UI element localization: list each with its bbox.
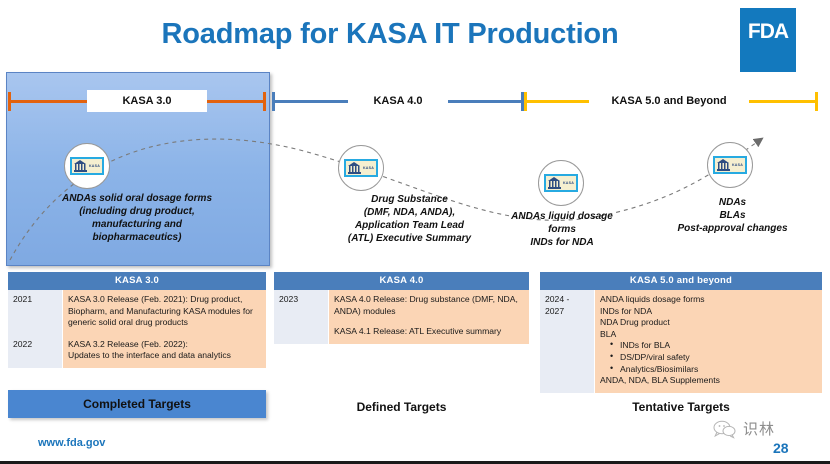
milestone-4-line-2: BLAs bbox=[650, 209, 815, 222]
bullet-item: DS/DP/viral safety bbox=[610, 352, 817, 364]
cell-paragraph: Updates to the interface and data analyt… bbox=[68, 350, 261, 362]
timeline-cap-right-3 bbox=[815, 92, 818, 111]
cell-paragraph: KASA 3.0 Release (Feb. 2021): Drug produ… bbox=[68, 294, 261, 329]
cell-paragraph: NDA Drug product bbox=[600, 317, 817, 329]
kasa-card-2: KASA bbox=[344, 159, 378, 177]
timeline-label-kasa-4: KASA 4.0 bbox=[348, 90, 448, 112]
wechat-bubble-icon bbox=[712, 419, 738, 439]
milestone-4-line-3: Post-approval changes bbox=[650, 222, 815, 235]
cell-body: KASA 3.0 Release (Feb. 2021): Drug produ… bbox=[63, 290, 267, 335]
table-kasa-3-grid: 2021 KASA 3.0 Release (Feb. 2021): Drug … bbox=[8, 290, 266, 368]
fda-logo-text: FDA bbox=[748, 20, 788, 44]
cell-paragraph: KASA 4.0 Release: Drug substance (DMF, N… bbox=[334, 294, 524, 317]
banner-defined-targets: Defined Targets bbox=[274, 396, 529, 418]
milestone-2-line-4: (ATL) Executive Summary bbox=[302, 232, 517, 245]
cell-body: KASA 3.2 Release (Feb. 2022): Updates to… bbox=[63, 335, 267, 368]
table-kasa-4: KASA 4.0 2023 KASA 4.0 Release: Drug sub… bbox=[274, 272, 529, 344]
cell-year: 2024 - 2027 bbox=[540, 290, 595, 393]
slide-canvas: Roadmap for KASA IT Production FDA KASA … bbox=[0, 0, 830, 464]
milestone-2-line-3: Application Team Lead bbox=[302, 219, 517, 232]
milestone-3-kasa-building-icon: KASA bbox=[538, 160, 584, 206]
timeline-segment-kasa-3: KASA 3.0 bbox=[8, 90, 266, 112]
cell-year: 2023 bbox=[274, 290, 329, 344]
banner-tentative-targets: Tentative Targets bbox=[540, 396, 822, 418]
milestone-2-caption: Drug Substance (DMF, NDA, ANDA), Applica… bbox=[302, 193, 517, 245]
watermark: 识林 bbox=[712, 418, 775, 439]
kasa-card-1: KASA bbox=[70, 157, 104, 175]
table-kasa-3: KASA 3.0 2021 KASA 3.0 Release (Feb. 202… bbox=[8, 272, 266, 368]
milestone-3-line-3: INDs for NDA bbox=[497, 236, 627, 249]
milestone-2-kasa-building-icon: KASA bbox=[338, 145, 384, 191]
building-glyph-1 bbox=[74, 160, 87, 172]
cell-bullet-list: INDs for BLA DS/DP/viral safety Analytic… bbox=[600, 340, 817, 375]
cell-paragraph: BLA bbox=[600, 329, 817, 341]
cell-year-line: 2024 - bbox=[545, 294, 589, 306]
page-number: 28 bbox=[773, 440, 789, 456]
cell-paragraph: ANDA, NDA, BLA Supplements bbox=[600, 375, 817, 387]
cell-paragraph: ANDA liquids dosage forms bbox=[600, 294, 817, 306]
table-kasa-4-grid: 2023 KASA 4.0 Release: Drug substance (D… bbox=[274, 290, 529, 344]
cell-paragraph: KASA 4.1 Release: ATL Executive summary bbox=[334, 326, 524, 338]
building-glyph-2 bbox=[348, 162, 361, 174]
milestone-3-line-1: ANDAs liquid dosage bbox=[497, 210, 627, 223]
milestone-1-line-4: biopharmaceutics) bbox=[6, 231, 268, 244]
cell-year: 2022 bbox=[8, 335, 63, 368]
cell-paragraph: INDs for NDA bbox=[600, 306, 817, 318]
milestone-1-kasa-building-icon: KASA bbox=[64, 143, 110, 189]
table-kasa-3-header: KASA 3.0 bbox=[8, 272, 266, 290]
milestone-3-line-2: forms bbox=[497, 223, 627, 236]
table-row: 2023 KASA 4.0 Release: Drug substance (D… bbox=[274, 290, 529, 344]
milestone-1-line-2: (including drug product, bbox=[6, 205, 268, 218]
milestone-2-line-2: (DMF, NDA, ANDA), bbox=[302, 206, 517, 219]
table-row: 2024 - 2027 ANDA liquids dosage forms IN… bbox=[540, 290, 822, 393]
table-kasa-5: KASA 5.0 and beyond 2024 - 2027 ANDA liq… bbox=[540, 272, 822, 393]
bullet-item: Analytics/Biosimilars bbox=[610, 364, 817, 376]
timeline-segment-kasa-4: KASA 4.0 bbox=[272, 90, 524, 112]
building-glyph-4 bbox=[717, 159, 730, 171]
cell-paragraph: KASA 3.2 Release (Feb. 2022): bbox=[68, 339, 261, 351]
building-glyph-3 bbox=[548, 177, 561, 189]
cell-year-line: 2027 bbox=[545, 306, 589, 318]
table-kasa-5-header: KASA 5.0 and beyond bbox=[540, 272, 822, 290]
watermark-text: 识林 bbox=[743, 418, 775, 439]
table-kasa-5-grid: 2024 - 2027 ANDA liquids dosage forms IN… bbox=[540, 290, 822, 393]
milestone-4-caption: NDAs BLAs Post-approval changes bbox=[650, 196, 815, 235]
table-row: 2021 KASA 3.0 Release (Feb. 2021): Drug … bbox=[8, 290, 266, 335]
page-title: Roadmap for KASA IT Production bbox=[90, 18, 690, 51]
milestone-1-line-1: ANDAs solid oral dosage forms bbox=[6, 192, 268, 205]
table-row: 2022 KASA 3.2 Release (Feb. 2022): Updat… bbox=[8, 335, 266, 368]
milestone-1-line-3: manufacturing and bbox=[6, 218, 268, 231]
timeline-label-kasa-3: KASA 3.0 bbox=[87, 90, 207, 112]
milestone-4-line-1: NDAs bbox=[650, 196, 815, 209]
milestone-2-line-1: Drug Substance bbox=[302, 193, 517, 206]
banner-completed-targets: Completed Targets bbox=[8, 390, 266, 418]
kasa-card-3: KASA bbox=[544, 174, 578, 192]
cell-year: 2021 bbox=[8, 290, 63, 335]
milestone-4-kasa-building-icon: KASA bbox=[707, 142, 753, 188]
timeline-label-kasa-5: KASA 5.0 and Beyond bbox=[589, 90, 749, 112]
fda-logo: FDA bbox=[740, 8, 796, 72]
timeline-segment-kasa-5: KASA 5.0 and Beyond bbox=[524, 90, 818, 112]
milestone-1-caption: ANDAs solid oral dosage forms (including… bbox=[6, 192, 268, 244]
bullet-item: INDs for BLA bbox=[610, 340, 817, 352]
cell-body: ANDA liquids dosage forms INDs for NDA N… bbox=[595, 290, 823, 393]
cell-body: KASA 4.0 Release: Drug substance (DMF, N… bbox=[329, 290, 530, 344]
timeline-cap-right-1 bbox=[263, 92, 266, 111]
table-kasa-4-header: KASA 4.0 bbox=[274, 272, 529, 290]
milestone-3-caption: ANDAs liquid dosage forms INDs for NDA bbox=[497, 210, 627, 249]
fda-gov-link[interactable]: www.fda.gov bbox=[38, 437, 105, 449]
kasa-card-4: KASA bbox=[713, 156, 747, 174]
